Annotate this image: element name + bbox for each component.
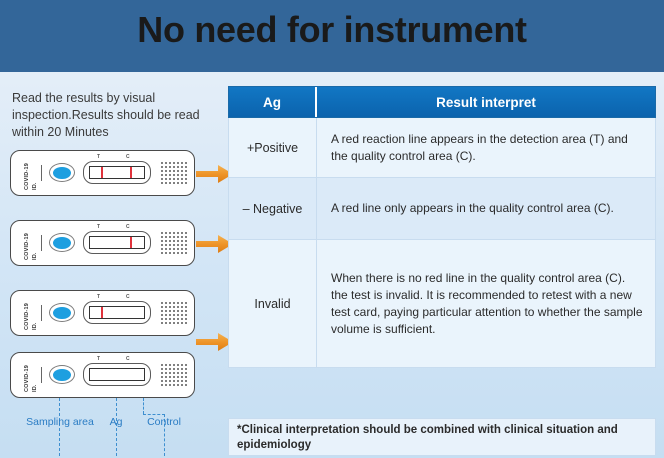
sample-well-icon: [53, 307, 71, 320]
marker-t-label: T: [97, 224, 100, 230]
sample-well-icon: [53, 167, 71, 180]
marker-c-label: C: [126, 294, 130, 300]
test-cassette-negative: COVID-19 ID. T C: [10, 220, 195, 266]
control-line-c: [130, 167, 132, 178]
slide-header: No need for instrument: [0, 0, 664, 72]
sample-well-ring: [49, 365, 75, 384]
test-cassette-invalid-blank: COVID-19 ID. T C: [10, 352, 195, 398]
cell-ag-negative: – Negative: [229, 178, 317, 239]
cell-interpret-invalid: When there is no red line in the quality…: [317, 240, 655, 367]
cassette-mesh-pattern: [159, 230, 189, 256]
cassette-divider-tick: [41, 367, 42, 383]
leader-line-control-stub: [143, 398, 144, 414]
marker-t-label: T: [97, 294, 100, 300]
test-cassette-positive: COVID-19 ID. T C: [10, 150, 195, 196]
marker-t-label: T: [97, 154, 100, 160]
table-row: – Negative A red line only appears in th…: [228, 178, 656, 240]
result-strip: [89, 368, 145, 381]
marker-c-label: C: [126, 356, 130, 362]
marker-t-label: T: [97, 356, 100, 362]
cassette-brand-label: COVID-19 ID.: [15, 227, 49, 261]
column-header-ag: Ag: [229, 87, 317, 117]
result-strip: [89, 236, 145, 249]
cassette-brand-line2: ID.: [32, 322, 38, 330]
page-title: No need for instrument: [0, 4, 664, 56]
cassette-brand-line1: COVID-19: [24, 365, 30, 392]
cell-ag-positive: +Positive: [229, 118, 317, 177]
cassette-mesh-pattern: [159, 160, 189, 186]
sample-well-icon: [53, 369, 71, 382]
table-row: Invalid When there is no red line in the…: [228, 240, 656, 368]
test-line-t: [101, 307, 103, 318]
result-window: [83, 301, 151, 324]
cassette-brand-line2: ID.: [32, 252, 38, 260]
cassette-brand-line2: ID.: [32, 384, 38, 392]
marker-c-label: C: [126, 154, 130, 160]
result-window: [83, 161, 151, 184]
cell-ag-invalid: Invalid: [229, 240, 317, 367]
table-row: +Positive A red reaction line appears in…: [228, 118, 656, 178]
cassette-divider-tick: [41, 235, 42, 251]
left-illustration-panel: Read the results by visual inspection.Re…: [0, 72, 228, 458]
result-window: [83, 231, 151, 254]
result-strip: [89, 166, 145, 179]
cassette-brand-line2: ID.: [32, 182, 38, 190]
cassette-mesh-pattern: [159, 362, 189, 388]
test-line-t: [101, 167, 103, 178]
cassette-brand-line1: COVID-19: [24, 303, 30, 330]
callout-sampling-area: Sampling area: [24, 416, 96, 429]
callout-ag: Ag: [100, 416, 132, 429]
cell-interpret-negative: A red line only appears in the quality c…: [317, 178, 655, 239]
cassette-mesh-pattern: [159, 300, 189, 326]
cassette-divider-tick: [41, 165, 42, 181]
sample-well-icon: [53, 237, 71, 250]
control-line-c: [130, 237, 132, 248]
callout-control: Control: [138, 416, 190, 429]
result-window: [83, 363, 151, 386]
test-cassette-invalid-t-only: COVID-19 ID. T C: [10, 290, 195, 336]
cassette-brand-line1: COVID-19: [24, 233, 30, 260]
cassette-brand-line1: COVID-19: [24, 163, 30, 190]
cassette-brand-label: COVID-19 ID.: [15, 157, 49, 191]
result-strip: [89, 306, 145, 319]
cassette-brand-label: COVID-19 ID.: [15, 359, 49, 393]
leader-line-control-elbow: [143, 414, 165, 415]
cell-interpret-positive: A red reaction line appears in the detec…: [317, 118, 655, 177]
cassette-brand-label: COVID-19 ID.: [15, 297, 49, 331]
sample-well-ring: [49, 163, 75, 182]
cassette-divider-tick: [41, 305, 42, 321]
slide-root: No need for instrument Read the results …: [0, 0, 664, 458]
column-header-result: Result interpret: [317, 87, 655, 117]
result-interpretation-table: Ag Result interpret +Positive A red reac…: [228, 86, 656, 368]
table-header-row: Ag Result interpret: [228, 86, 656, 118]
clinical-footnote: *Clinical interpretation should be combi…: [228, 418, 656, 456]
instruction-text: Read the results by visual inspection.Re…: [12, 90, 224, 141]
sample-well-ring: [49, 233, 75, 252]
sample-well-ring: [49, 303, 75, 322]
marker-c-label: C: [126, 224, 130, 230]
